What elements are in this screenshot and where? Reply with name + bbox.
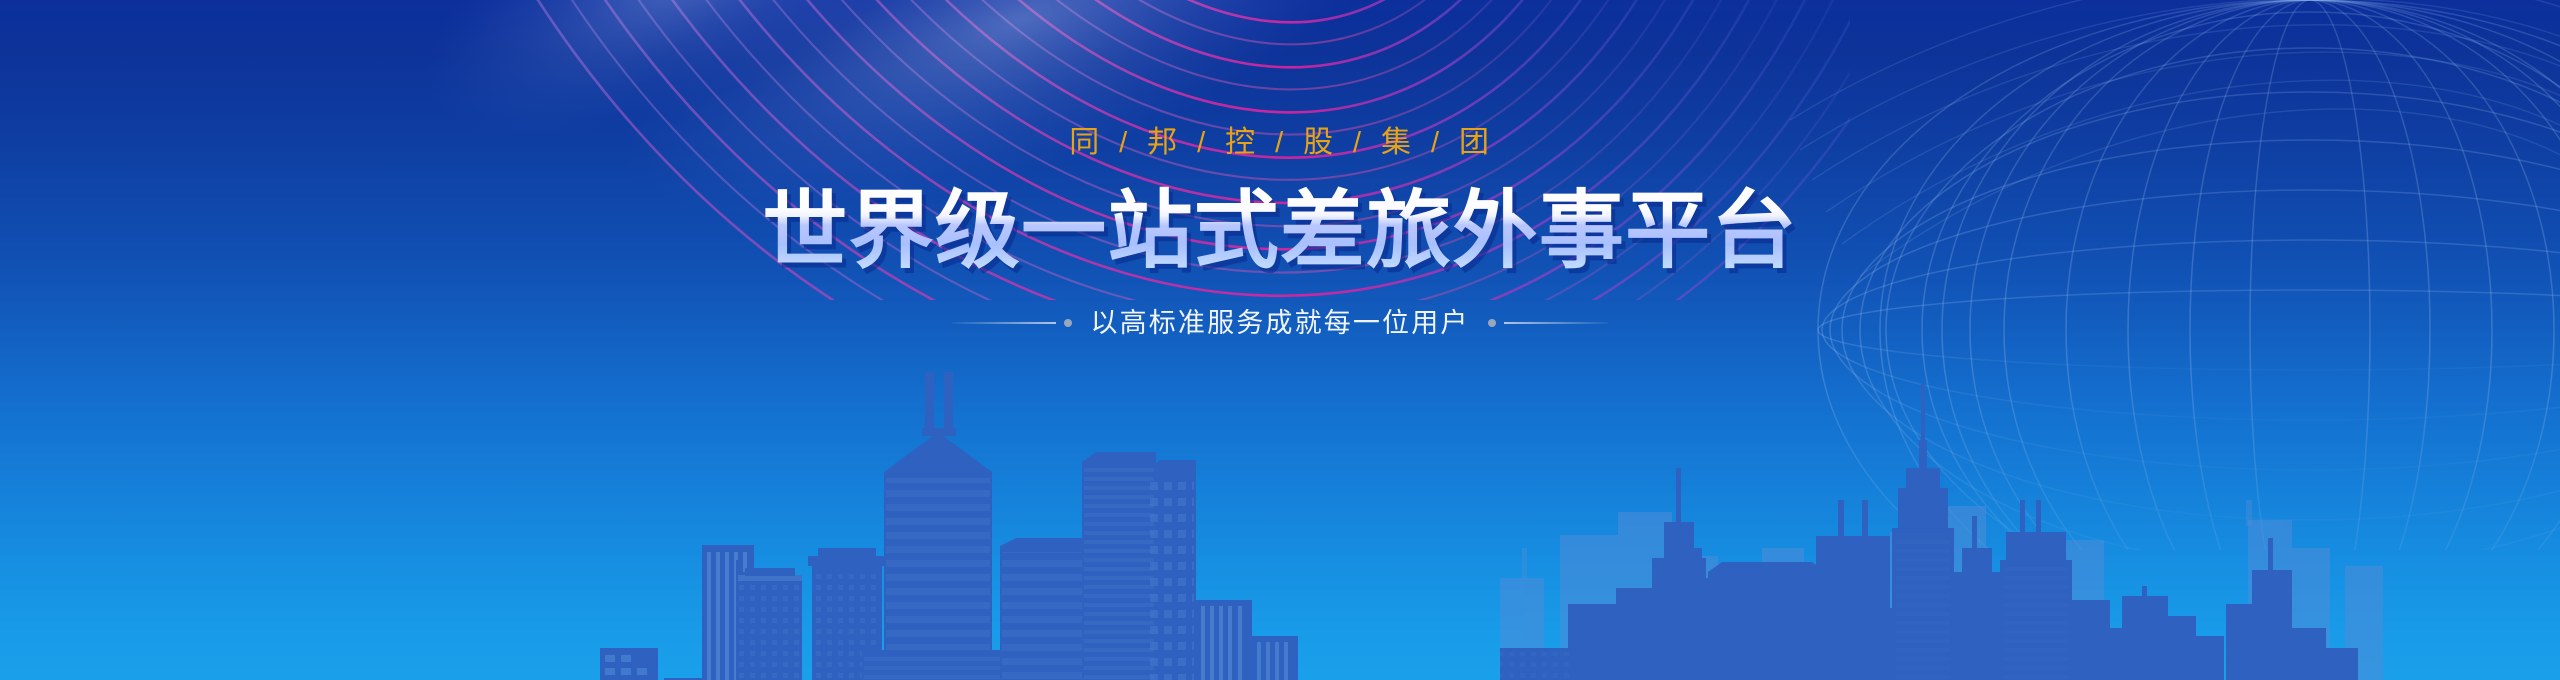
page-title: 世界级一站式差旅外事平台 [0, 158, 2560, 278]
eyebrow-char-3: 控 [1221, 126, 1261, 159]
eyebrow-char-1: 同 [1065, 126, 1105, 159]
banner-content: 同 / 邦 / 控 / 股 / 集 / 团 世界级一站式差旅外事平台 以高标准服… [0, 0, 2560, 337]
eyebrow-char-4: 股 [1299, 126, 1339, 159]
eyebrow-char-5: 集 [1377, 126, 1417, 159]
hero-banner: 同 / 邦 / 控 / 股 / 集 / 团 世界级一站式差旅外事平台 以高标准服… [0, 0, 2560, 680]
eyebrow-char-2: 邦 [1143, 126, 1183, 159]
subtitle-row: 以高标准服务成就每一位用户 [0, 278, 2560, 337]
page-subtitle: 以高标准服务成就每一位用户 [1090, 310, 1469, 337]
subtitle-rule-right-dot [1488, 319, 1496, 327]
subtitle-rule-right-bar [1504, 322, 1608, 324]
eyebrow-separator-2: / [1193, 127, 1211, 159]
subtitle-rule-left-dot [1064, 319, 1072, 327]
subtitle-rule-right [1488, 322, 1608, 324]
eyebrow-separator-1: / [1115, 127, 1133, 159]
eyebrow-separator-4: / [1349, 127, 1367, 159]
subtitle-rule-left-bar [952, 322, 1056, 324]
eyebrow-char-6: 团 [1455, 126, 1495, 159]
eyebrow-separator-3: / [1271, 127, 1289, 159]
company-eyebrow: 同 / 邦 / 控 / 股 / 集 / 团 [0, 0, 2560, 158]
eyebrow-separator-5: / [1427, 127, 1445, 159]
subtitle-rule-left [952, 322, 1072, 324]
